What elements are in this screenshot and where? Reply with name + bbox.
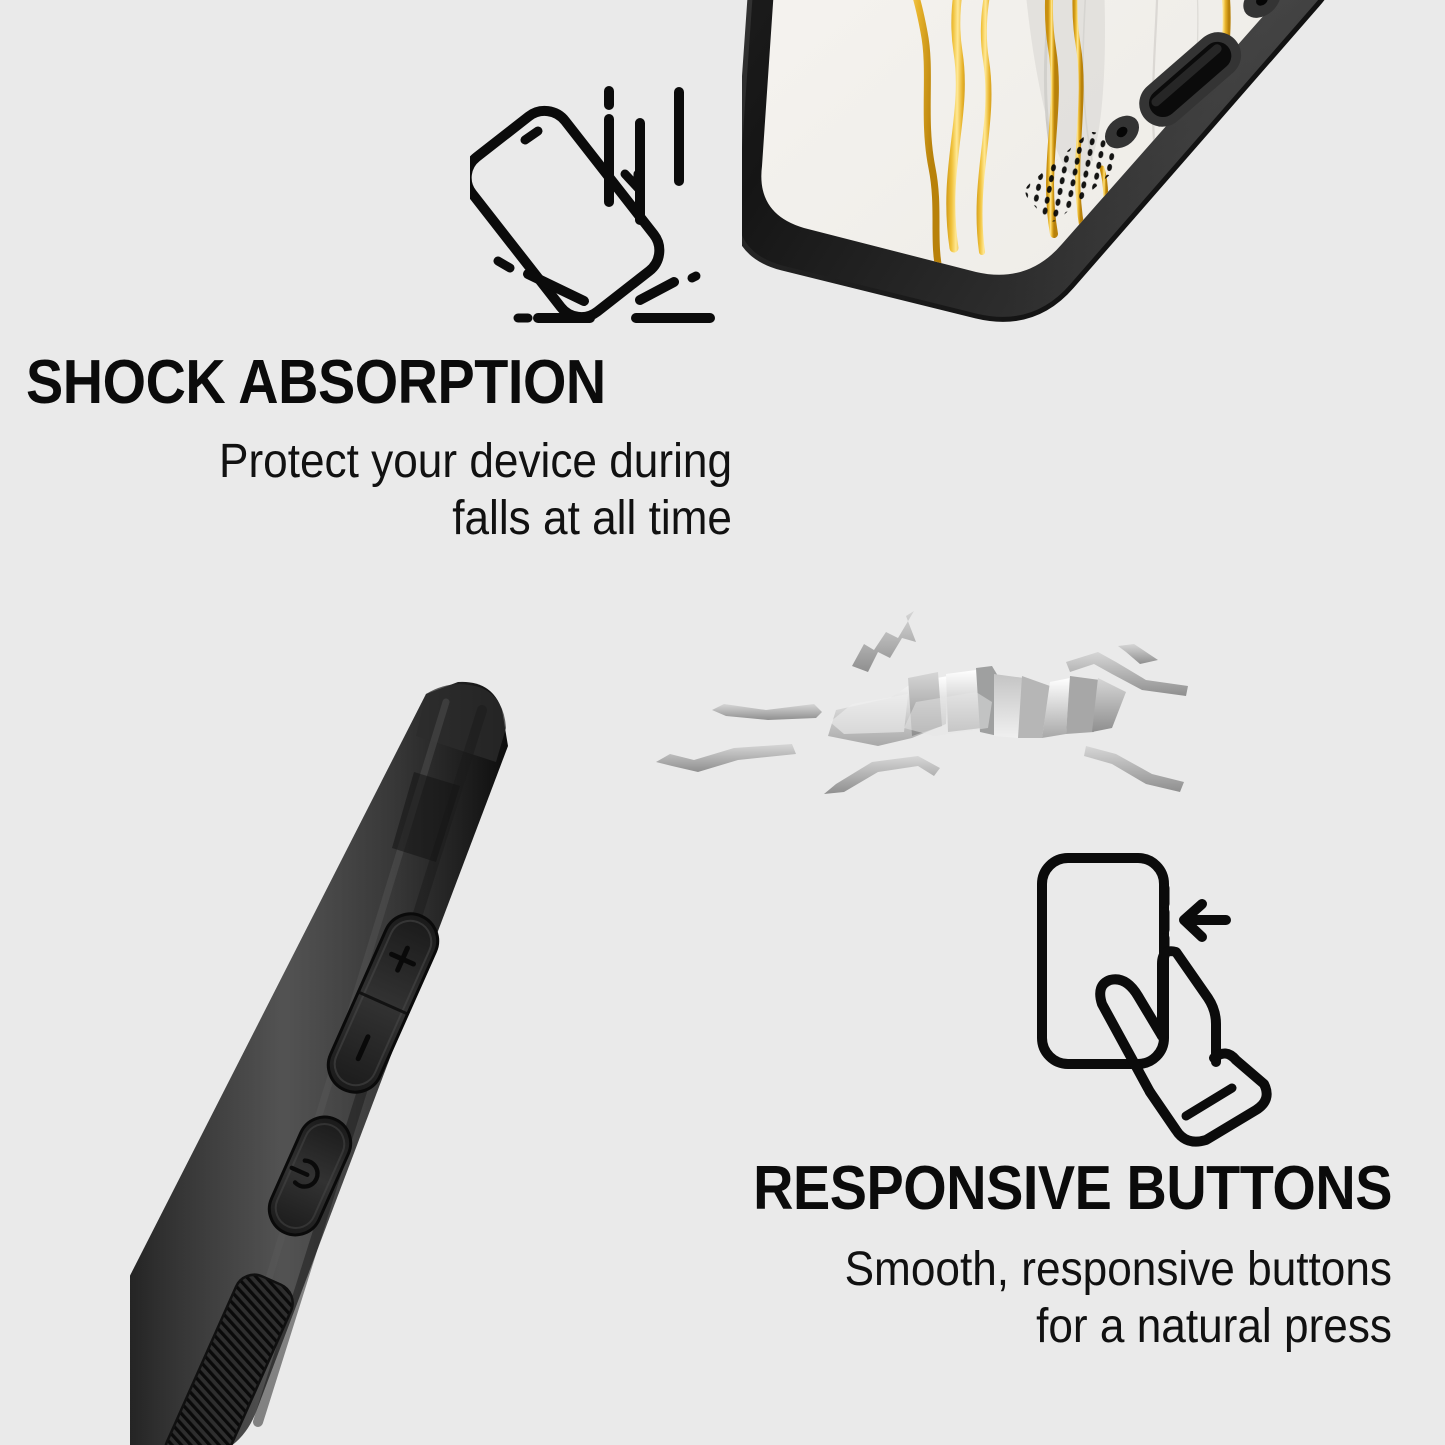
phone-outline bbox=[1042, 858, 1165, 1064]
feature-subtitle-buttons: Smooth, responsive buttons for a natural… bbox=[700, 1242, 1392, 1355]
infographic-canvas: SHOCK ABSORPTION Protect your device dur… bbox=[0, 0, 1445, 1445]
press-arrow-icon bbox=[1184, 904, 1226, 937]
feature-subtitle-line-1: Smooth, responsive buttons bbox=[700, 1242, 1392, 1299]
hand-pressing-phone-button-icon bbox=[1010, 848, 1282, 1148]
motion-lines bbox=[609, 91, 679, 220]
hand-outline bbox=[1100, 951, 1266, 1141]
feature-subtitle-line-2: falls at all time bbox=[82, 491, 732, 548]
feature-subtitle-line-2: for a natural press bbox=[700, 1299, 1392, 1356]
phone-drop-impact-icon bbox=[470, 78, 740, 340]
phone-case-side-profile-image bbox=[130, 676, 590, 1445]
feature-subtitle-shock: Protect your device during falls at all … bbox=[82, 434, 732, 547]
feature-title-shock: SHOCK ABSORPTION bbox=[26, 352, 661, 414]
crack-center-slabs bbox=[828, 666, 1126, 746]
feature-subtitle-line-1: Protect your device during bbox=[82, 434, 732, 491]
feature-shock-absorption: SHOCK ABSORPTION Protect your device dur… bbox=[26, 352, 732, 547]
cracked-ground-graphic bbox=[646, 586, 1202, 826]
feature-title-buttons: RESPONSIVE BUTTONS bbox=[715, 1158, 1392, 1220]
marble-phone-case-image bbox=[742, 0, 1382, 608]
feature-responsive-buttons: RESPONSIVE BUTTONS Smooth, responsive bu… bbox=[640, 1158, 1392, 1355]
